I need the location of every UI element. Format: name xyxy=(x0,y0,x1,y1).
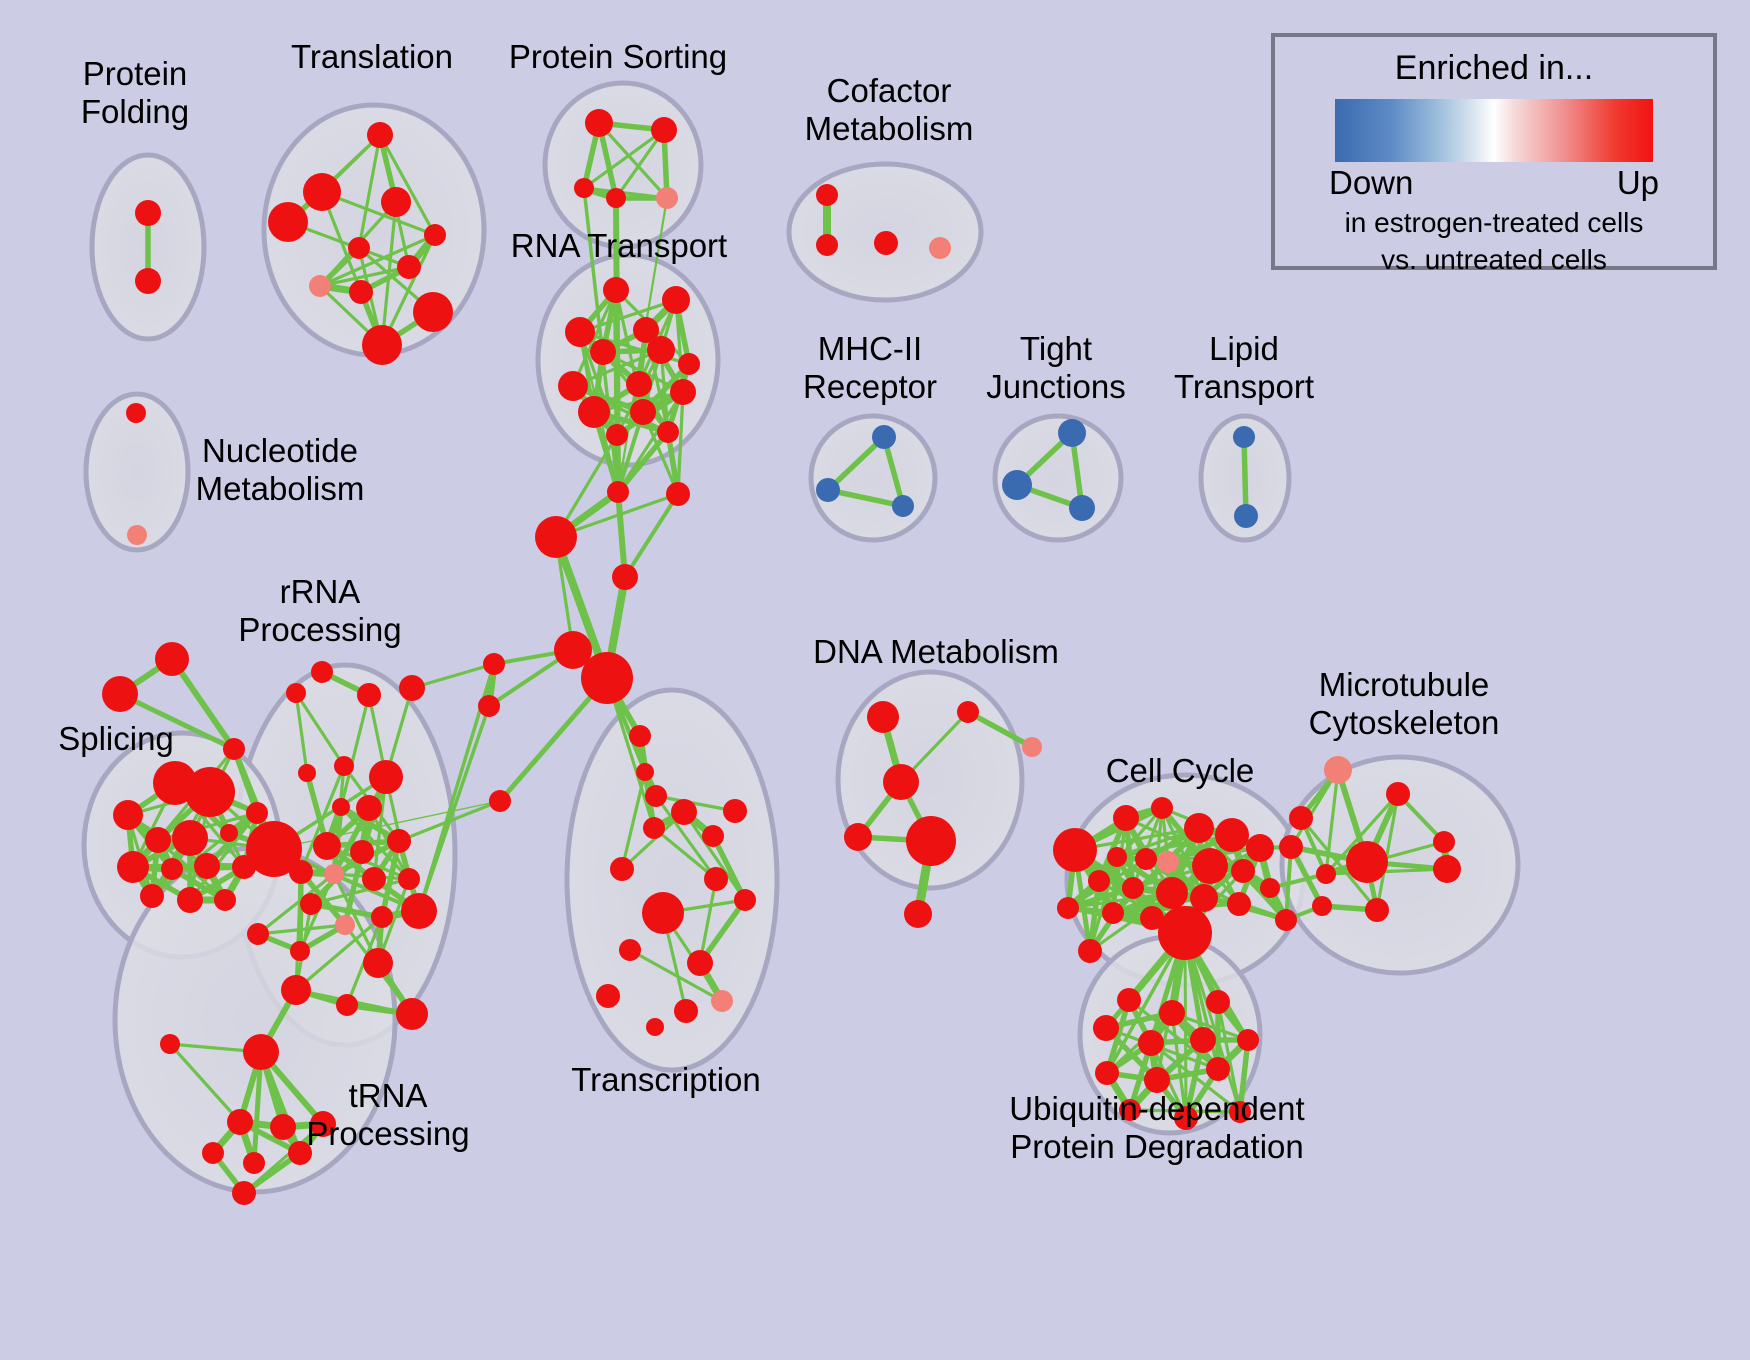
cluster-ellipse-protein-sorting xyxy=(545,83,701,247)
gene-set-node[interactable] xyxy=(1069,495,1095,521)
legend-caption-line2: vs. untreated cells xyxy=(1275,243,1713,276)
gene-set-node[interactable] xyxy=(290,941,310,961)
gene-set-node[interactable] xyxy=(1206,990,1230,1014)
gene-set-node[interactable] xyxy=(145,827,171,853)
gene-set-node[interactable] xyxy=(478,695,500,717)
gene-set-node[interactable] xyxy=(300,893,322,915)
gene-set-node[interactable] xyxy=(1113,805,1139,831)
gene-set-node[interactable] xyxy=(281,975,311,1005)
gene-set-node[interactable] xyxy=(904,900,932,928)
gene-set-node[interactable] xyxy=(578,396,610,428)
gene-set-node[interactable] xyxy=(232,1181,256,1205)
gene-set-node[interactable] xyxy=(1088,870,1110,892)
gene-set-node[interactable] xyxy=(367,122,393,148)
gene-set-node[interactable] xyxy=(1231,859,1255,883)
gene-set-node[interactable] xyxy=(1215,818,1249,852)
gene-set-node[interactable] xyxy=(656,187,678,209)
gene-set-node[interactable] xyxy=(646,1018,664,1036)
gene-set-node[interactable] xyxy=(363,948,393,978)
gene-set-node[interactable] xyxy=(1275,909,1297,931)
gene-set-node[interactable] xyxy=(155,642,189,676)
gene-set-node[interactable] xyxy=(892,495,914,517)
gene-set-node[interactable] xyxy=(371,906,393,928)
gene-set-node[interactable] xyxy=(332,798,350,816)
gene-set-node[interactable] xyxy=(298,764,316,782)
gene-set-node[interactable] xyxy=(223,738,245,760)
gene-set-node[interactable] xyxy=(816,234,838,256)
gene-set-node[interactable] xyxy=(711,990,733,1012)
gene-set-node[interactable] xyxy=(311,661,333,683)
gene-set-node[interactable] xyxy=(1260,878,1280,898)
gene-set-node[interactable] xyxy=(629,725,651,747)
legend-down-label: Down xyxy=(1329,164,1413,202)
gene-set-node[interactable] xyxy=(606,188,626,208)
gene-set-node[interactable] xyxy=(1157,851,1179,873)
gene-set-node[interactable] xyxy=(102,676,138,712)
gene-set-node[interactable] xyxy=(288,1141,312,1165)
gene-set-node[interactable] xyxy=(324,864,344,884)
legend-color-gradient-bar xyxy=(1335,99,1653,162)
gene-set-node[interactable] xyxy=(357,683,381,707)
gene-set-node[interactable] xyxy=(565,317,595,347)
gene-set-node[interactable] xyxy=(1227,892,1251,916)
gene-set-node[interactable] xyxy=(286,683,306,703)
gene-set-node[interactable] xyxy=(1279,835,1303,859)
gene-set-node[interactable] xyxy=(397,255,421,279)
legend-caption-line1: in estrogen-treated cells xyxy=(1275,206,1713,239)
gene-set-node[interactable] xyxy=(399,675,425,701)
gene-set-node[interactable] xyxy=(906,816,956,866)
gene-set-node[interactable] xyxy=(220,824,238,842)
gene-set-node[interactable] xyxy=(1233,426,1255,448)
gene-set-node[interactable] xyxy=(642,892,684,934)
gene-set-node[interactable] xyxy=(816,184,838,206)
network-edge xyxy=(1185,933,1186,1118)
gene-set-node[interactable] xyxy=(1158,906,1212,960)
gene-set-node[interactable] xyxy=(1151,797,1173,819)
gene-set-node[interactable] xyxy=(483,653,505,675)
gene-set-node[interactable] xyxy=(704,867,728,891)
gene-set-node[interactable] xyxy=(362,325,402,365)
gene-set-node[interactable] xyxy=(603,277,629,303)
gene-set-node[interactable] xyxy=(335,915,355,935)
gene-set-node[interactable] xyxy=(1324,756,1352,784)
gene-set-node[interactable] xyxy=(489,790,511,812)
gene-set-node[interactable] xyxy=(1156,877,1188,909)
gene-set-node[interactable] xyxy=(657,421,679,443)
gene-set-node[interactable] xyxy=(612,564,638,590)
gene-set-node[interactable] xyxy=(585,109,613,137)
gene-set-node[interactable] xyxy=(1433,855,1461,883)
gene-set-node[interactable] xyxy=(723,799,747,823)
gene-set-node[interactable] xyxy=(1246,834,1274,862)
enrichment-map-figure: Protein Folding Translation Protein Sort… xyxy=(0,0,1750,1360)
gene-set-node[interactable] xyxy=(177,887,203,913)
gene-set-node[interactable] xyxy=(214,889,236,911)
gene-set-node[interactable] xyxy=(310,1111,336,1137)
gene-set-node[interactable] xyxy=(702,825,724,847)
gene-set-node[interactable] xyxy=(1433,831,1455,853)
gene-set-node[interactable] xyxy=(247,923,269,945)
gene-set-node[interactable] xyxy=(647,336,675,364)
gene-set-node[interactable] xyxy=(1144,1067,1170,1093)
gene-set-node[interactable] xyxy=(1117,988,1141,1012)
gene-set-node[interactable] xyxy=(816,478,840,502)
gene-set-node[interactable] xyxy=(268,202,308,242)
gene-set-node[interactable] xyxy=(413,292,453,332)
gene-set-node[interactable] xyxy=(270,1114,296,1140)
gene-set-node[interactable] xyxy=(651,117,677,143)
gene-set-node[interactable] xyxy=(1237,1029,1259,1051)
gene-set-node[interactable] xyxy=(867,701,899,733)
gene-set-node[interactable] xyxy=(581,652,633,704)
gene-set-node[interactable] xyxy=(126,403,146,423)
gene-set-node[interactable] xyxy=(607,481,629,503)
gene-set-node[interactable] xyxy=(172,820,208,856)
gene-set-node[interactable] xyxy=(161,858,183,880)
gene-set-node[interactable] xyxy=(734,889,756,911)
gene-set-node[interactable] xyxy=(662,286,690,314)
gene-set-node[interactable] xyxy=(1229,1101,1251,1123)
gene-set-node[interactable] xyxy=(1107,847,1127,867)
gene-set-node[interactable] xyxy=(1234,504,1258,528)
gene-set-node[interactable] xyxy=(1053,828,1097,872)
gene-set-node[interactable] xyxy=(1058,419,1086,447)
gene-set-node[interactable] xyxy=(1159,1000,1185,1026)
gene-set-node[interactable] xyxy=(1190,1027,1216,1053)
gene-set-node[interactable] xyxy=(636,763,654,781)
gene-set-node[interactable] xyxy=(957,701,979,723)
gene-set-node[interactable] xyxy=(619,939,641,961)
gene-set-node[interactable] xyxy=(135,268,161,294)
gene-set-node[interactable] xyxy=(381,187,411,217)
gene-set-node[interactable] xyxy=(1095,1061,1119,1085)
gene-set-node[interactable] xyxy=(127,525,147,545)
gene-set-node[interactable] xyxy=(1192,848,1228,884)
gene-set-node[interactable] xyxy=(1093,1015,1119,1041)
gene-set-node[interactable] xyxy=(1289,806,1313,830)
gene-set-node[interactable] xyxy=(1102,902,1124,924)
gene-set-node[interactable] xyxy=(596,984,620,1008)
gene-set-node[interactable] xyxy=(313,832,341,860)
gene-set-node[interactable] xyxy=(113,800,143,830)
gene-set-node[interactable] xyxy=(1022,737,1042,757)
gene-set-node[interactable] xyxy=(883,764,919,800)
gene-set-node[interactable] xyxy=(1135,848,1157,870)
gene-set-node[interactable] xyxy=(303,173,341,211)
gene-set-node[interactable] xyxy=(643,817,665,839)
gene-set-node[interactable] xyxy=(1002,470,1032,500)
gene-set-node[interactable] xyxy=(356,795,382,821)
gene-set-node[interactable] xyxy=(670,379,696,405)
gene-set-node[interactable] xyxy=(350,840,374,864)
cluster-ellipse-transcription xyxy=(567,690,777,1070)
gene-set-node[interactable] xyxy=(844,823,872,851)
gene-set-node[interactable] xyxy=(246,802,268,824)
legend-title: Enriched in... xyxy=(1275,49,1713,88)
gene-set-node[interactable] xyxy=(401,893,437,929)
gene-set-node[interactable] xyxy=(135,200,161,226)
gene-set-node[interactable] xyxy=(590,339,616,365)
network-edge xyxy=(616,290,618,492)
gene-set-node[interactable] xyxy=(398,868,420,890)
gene-set-node[interactable] xyxy=(202,1142,224,1164)
gene-set-node[interactable] xyxy=(874,231,898,255)
gene-set-node[interactable] xyxy=(334,756,354,776)
gene-set-node[interactable] xyxy=(1206,1057,1230,1081)
gene-set-node[interactable] xyxy=(687,950,713,976)
gene-set-node[interactable] xyxy=(387,829,411,853)
gene-set-node[interactable] xyxy=(929,237,951,259)
gene-set-node[interactable] xyxy=(535,516,577,558)
gene-set-node[interactable] xyxy=(645,785,667,807)
gene-set-node[interactable] xyxy=(117,851,149,883)
gene-set-node[interactable] xyxy=(1365,898,1389,922)
network-edge xyxy=(625,494,678,577)
gene-set-node[interactable] xyxy=(1174,1106,1198,1130)
legend-endpoint-labels: Down Up xyxy=(1329,164,1659,202)
gene-set-node[interactable] xyxy=(1119,1099,1141,1121)
gene-set-node[interactable] xyxy=(666,482,690,506)
gene-set-node[interactable] xyxy=(574,178,594,198)
legend-up-label: Up xyxy=(1617,164,1659,202)
gene-set-node[interactable] xyxy=(140,884,164,908)
gene-set-node[interactable] xyxy=(369,760,403,794)
gene-set-node[interactable] xyxy=(185,767,235,817)
gene-set-node[interactable] xyxy=(289,860,313,884)
gene-set-node[interactable] xyxy=(243,1152,265,1174)
legend-box: Enriched in... Down Up in estrogen-treat… xyxy=(1271,33,1717,270)
gene-set-node[interactable] xyxy=(424,224,446,246)
gene-set-node[interactable] xyxy=(396,998,428,1030)
gene-set-node[interactable] xyxy=(336,994,358,1016)
gene-set-node[interactable] xyxy=(227,1109,253,1135)
gene-set-node[interactable] xyxy=(610,857,634,881)
gene-set-node[interactable] xyxy=(1122,877,1144,899)
gene-set-node[interactable] xyxy=(1138,1030,1164,1056)
gene-set-node[interactable] xyxy=(606,424,628,446)
gene-set-node[interactable] xyxy=(1346,841,1388,883)
gene-set-node[interactable] xyxy=(160,1034,180,1054)
gene-set-node[interactable] xyxy=(671,799,697,825)
gene-set-node[interactable] xyxy=(194,853,220,879)
gene-set-node[interactable] xyxy=(1386,782,1410,806)
gene-set-node[interactable] xyxy=(1057,897,1079,919)
gene-set-node[interactable] xyxy=(309,275,331,297)
gene-set-node[interactable] xyxy=(1184,813,1214,843)
gene-set-node[interactable] xyxy=(348,237,370,259)
gene-set-node[interactable] xyxy=(243,1034,279,1070)
gene-set-node[interactable] xyxy=(558,371,588,401)
gene-set-node[interactable] xyxy=(674,999,698,1023)
gene-set-node[interactable] xyxy=(349,280,373,304)
gene-set-node[interactable] xyxy=(362,867,386,891)
gene-set-node[interactable] xyxy=(1078,939,1102,963)
gene-set-node[interactable] xyxy=(678,353,700,375)
gene-set-node[interactable] xyxy=(872,425,896,449)
gene-set-node[interactable] xyxy=(630,399,656,425)
gene-set-node[interactable] xyxy=(1316,864,1336,884)
gene-set-node[interactable] xyxy=(626,371,652,397)
gene-set-node[interactable] xyxy=(1312,896,1332,916)
